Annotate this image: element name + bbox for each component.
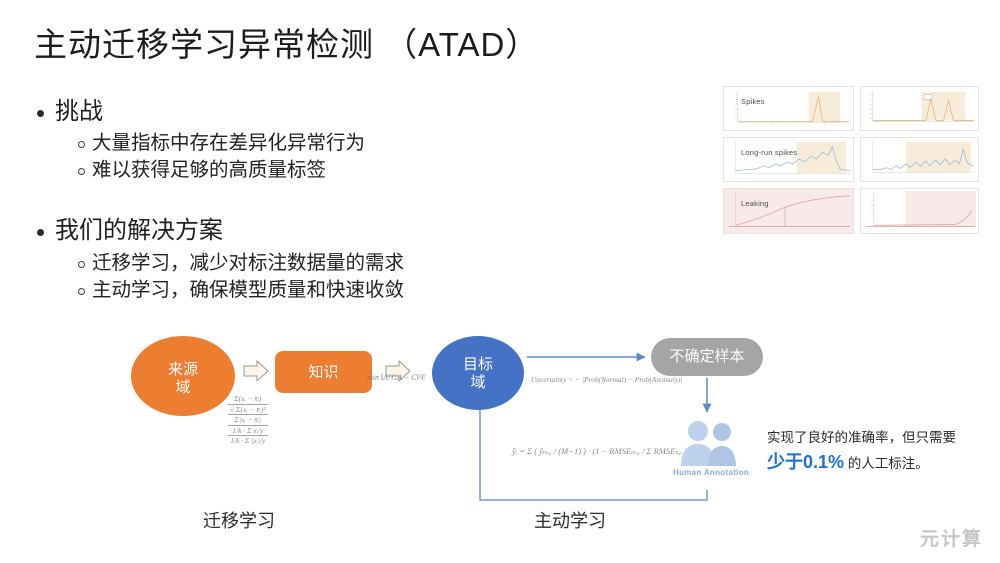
watermark: 元计算 xyxy=(920,524,983,551)
thumbnail-long-run-spikes: Long-run spikes xyxy=(723,137,854,182)
double-spike-sparkline-icon xyxy=(861,87,978,130)
formula-stack-row: 1/k · Σ xᵢ/y xyxy=(228,426,268,437)
caption-transfer-learning: 迁移学习 xyxy=(203,507,275,533)
bullet-heading-solution: 我们的解决方案 xyxy=(55,215,223,247)
page-title: 主动迁移学习异常检测 （ATAD） xyxy=(34,18,539,66)
thumbnail-leaking-2 xyxy=(860,188,979,234)
bullet-sub-text: 大量指标中存在差异化异常行为 xyxy=(92,130,365,157)
bullet-sub-text: 迁移学习，减少对标注数据量的需求 xyxy=(92,250,404,277)
bullet-level2-item: 难以获得足够的高质量标签 xyxy=(78,157,504,184)
formula-mmd: min ‖AᵀGA − C‖²F xyxy=(367,373,426,382)
spikes-sparkline-icon xyxy=(724,87,853,130)
leaking-sparkline-icon xyxy=(724,189,853,233)
formula-stack-row: 1/k · Σ |xᵢ|/y xyxy=(228,436,268,446)
longrun2-sparkline-icon xyxy=(861,138,978,181)
bullet-dot-icon xyxy=(37,229,44,236)
bullet-ring-icon xyxy=(78,168,85,175)
thumbnail-long-run-spikes-2 xyxy=(860,137,979,182)
formula-stack-row: √ Σ(xᵢ − x̄ᵢ)² xyxy=(228,405,268,416)
bullet-sub-text: 主动学习，确保模型质量和快速收敛 xyxy=(92,277,404,304)
slide-root: 主动迁移学习异常检测 （ATAD） 挑战 大量指标中存在差异化异常行为 难以获得… xyxy=(0,0,1000,563)
formula-ensemble: ŷᵢ = Σ ( ŷₘ,ᵢ / (M−1) ) · (1 − RMSEₘ,ᵢ /… xyxy=(512,446,687,457)
bullet-ring-icon xyxy=(78,141,85,148)
bullet-list: 挑战 大量指标中存在差异化异常行为 难以获得足够的高质量标签 我们的解决方案 迁… xyxy=(34,96,504,303)
bullet-group-spacer xyxy=(34,184,504,215)
thumbnail-label: Leaking xyxy=(741,199,769,208)
thumbnail-label: Spikes xyxy=(741,97,765,106)
bullet-level1-solution: 我们的解决方案 xyxy=(34,215,504,247)
human-annotation-label: Human Annotation xyxy=(673,468,749,477)
formula-stack-row: Σ(xᵢ − x̄ᵢ) xyxy=(228,394,268,405)
thumbnail-double-spikes xyxy=(860,86,979,131)
bullet-ring-icon xyxy=(78,261,85,268)
bullet-heading-challenge: 挑战 xyxy=(55,96,103,128)
bullet-level2-item: 迁移学习，减少对标注数据量的需求 xyxy=(78,250,504,277)
node-source-domain xyxy=(131,336,235,416)
result-highlight: 少于0.1% xyxy=(767,452,844,472)
human-annotation-icon xyxy=(676,418,742,473)
node-knowledge xyxy=(275,351,372,393)
thumbnail-spikes: Spikes xyxy=(723,86,854,131)
node-target-domain xyxy=(432,336,524,410)
bullet-level2-item: 大量指标中存在差异化异常行为 xyxy=(78,130,504,157)
node-uncertain-samples xyxy=(651,338,763,376)
bullet-sub-text: 难以获得足够的高质量标签 xyxy=(92,157,326,184)
result-line2-suffix: 的人工标注。 xyxy=(844,456,929,471)
leaking2-sparkline-icon xyxy=(861,189,978,233)
thumbnail-leaking: Leaking xyxy=(723,188,854,234)
bullet-level1-challenge: 挑战 xyxy=(34,96,504,128)
formula-similarity-stack: Σ(xᵢ − x̄ᵢ) √ Σ(xᵢ − x̄ᵢ)² Σ|xᵢ − x̄ᵢ| 1… xyxy=(228,394,268,446)
formula-stack-row: Σ|xᵢ − x̄ᵢ| xyxy=(228,415,268,426)
atad-pipeline-diagram: 来源域 知识 目标域 不确定样本 min ‖AᵀGA − C‖²F Uncert… xyxy=(0,318,1000,563)
caption-active-learning: 主动学习 xyxy=(534,507,606,533)
longrun-sparkline-icon xyxy=(724,138,853,181)
bullet-level2-item: 主动学习，确保模型质量和快速收敛 xyxy=(78,277,504,304)
formula-uncertainty: Uncertainty = − |Prob(Normal) − Prob(Ano… xyxy=(531,376,683,384)
result-line1: 实现了良好的准确率，但只需要 xyxy=(767,430,956,445)
flow-arrow-1-icon xyxy=(243,360,269,382)
result-statement: 实现了良好的准确率，但只需要 少于0.1% 的人工标注。 xyxy=(767,428,982,477)
anomaly-pattern-thumbnail-grid: Spikes xyxy=(723,86,979,238)
thumbnail-label: Long-run spikes xyxy=(741,148,797,157)
bullet-ring-icon xyxy=(78,288,85,295)
bullet-dot-icon xyxy=(37,110,44,117)
